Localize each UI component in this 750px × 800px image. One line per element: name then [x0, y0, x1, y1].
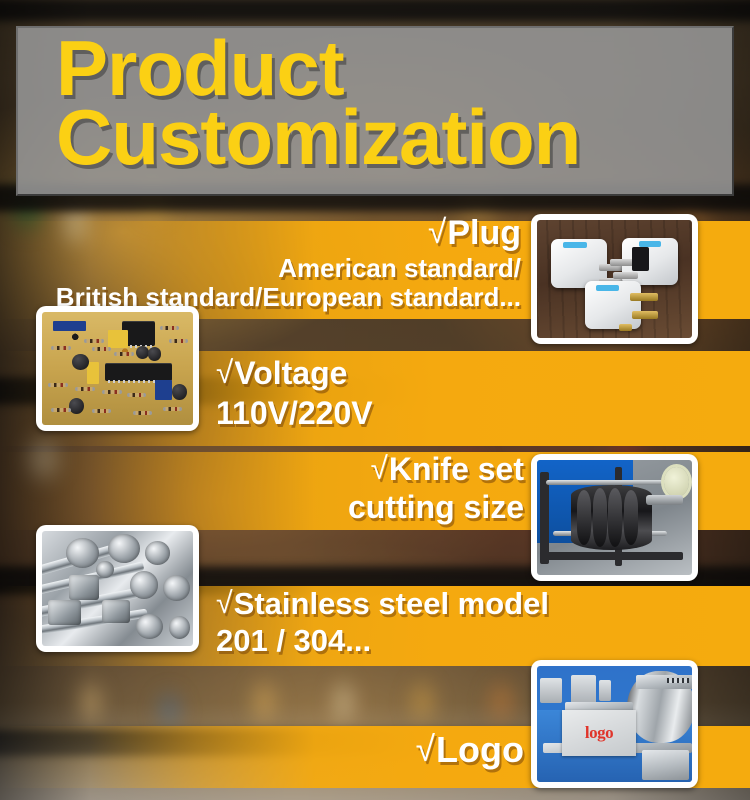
feature-heading-steel: √Stainless steel model [216, 588, 549, 619]
feature-heading-knife-label: Knife set [389, 451, 524, 487]
feature-text-plug: √Plug American standard/ British standar… [0, 216, 521, 310]
feature-text-knife: √Knife set cutting size [0, 453, 524, 523]
feature-heading-voltage-label: Voltage [234, 355, 347, 391]
feature-text-steel: √Stainless steel model 201 / 304... [216, 588, 549, 656]
feature-text-voltage: √Voltage 110V/220V [216, 357, 373, 429]
stainless-steel-pipes-photo [42, 531, 193, 646]
check-icon: √ [371, 453, 388, 484]
feature-heading-logo-label: Logo [436, 729, 524, 770]
feature-heading-steel-label: Stainless steel model [234, 586, 549, 621]
thumbnail-knife-set [531, 454, 698, 581]
thumbnail-circuit-board [36, 306, 199, 431]
feature-detail-voltage-line1: 110V/220V [216, 397, 373, 429]
feature-detail-knife-line1: cutting size [0, 491, 524, 523]
thumbnail-plug [531, 214, 698, 344]
logo-placard-text: logo [585, 723, 613, 743]
feature-detail-plug-line1: American standard/ [0, 255, 521, 281]
feature-heading-logo: √Logo [0, 732, 524, 768]
check-icon: √ [428, 216, 446, 249]
feature-heading-voltage: √Voltage [216, 357, 373, 389]
circuit-board-photo [42, 312, 193, 425]
feature-heading-plug-label: Plug [447, 214, 521, 252]
knife-set-roller-photo [537, 460, 692, 575]
thumbnail-stainless-steel [36, 525, 199, 652]
feature-detail-steel-line1: 201 / 304... [216, 625, 549, 656]
feature-heading-knife: √Knife set [0, 453, 524, 485]
plug-adapters-photo [537, 220, 692, 338]
check-icon: √ [216, 357, 233, 388]
check-icon: √ [216, 588, 233, 618]
check-icon: √ [416, 732, 435, 767]
feature-text-logo: √Logo [0, 732, 524, 768]
machine-with-logo-photo: logo [537, 666, 692, 782]
title-line-2: Customization [56, 103, 750, 172]
page-title: Product Customization [56, 34, 750, 171]
thumbnail-logo-machine: logo [531, 660, 698, 788]
product-customization-poster: Product Customization √Plug American sta… [0, 0, 750, 800]
feature-heading-plug: √Plug [0, 216, 521, 250]
